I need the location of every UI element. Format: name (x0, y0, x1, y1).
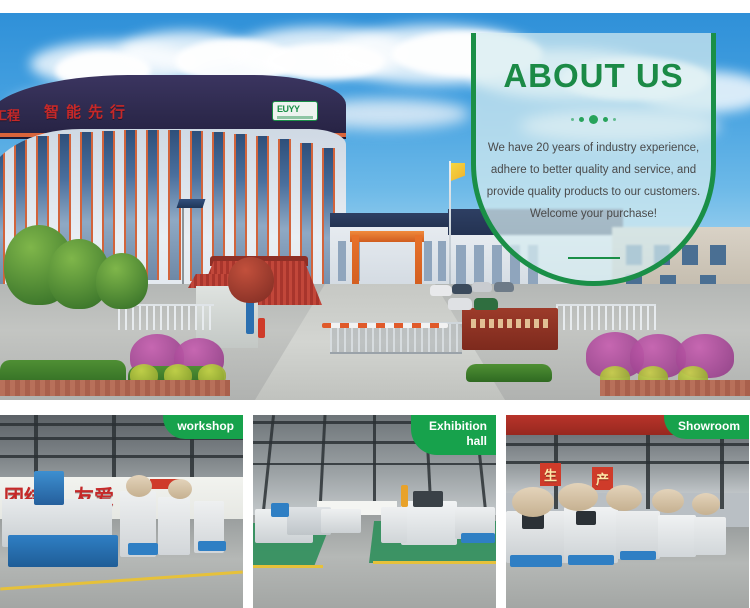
about-us-panel: ABOUT US We have 20 years of industry ex… (471, 33, 716, 286)
company-stone-sign (462, 308, 558, 350)
notice-board (246, 300, 254, 334)
machine (401, 501, 457, 545)
hanging-banner: 生 (540, 463, 561, 486)
fence (118, 304, 214, 330)
indicator-light (401, 485, 408, 507)
paved-walkway (600, 380, 750, 396)
gallery-item-showroom[interactable]: 生 产 Showroom (506, 415, 749, 608)
machine-base (8, 535, 118, 567)
gallery-badge-showroom: Showroom (664, 415, 749, 439)
hero-image: 工程 智能先行 EUYY (0, 13, 750, 400)
solar-panel (177, 199, 206, 208)
about-line: We have 20 years of industry experience, (484, 137, 703, 159)
gallery-badge-workshop: workshop (163, 415, 243, 439)
gallery-badge-exhibition-hall: Exhibition hall (411, 415, 496, 455)
about-us-page: 工程 智能先行 EUYY (0, 0, 750, 608)
building-sign-main: 智能先行 (44, 101, 132, 122)
about-us-title: ABOUT US (476, 57, 711, 95)
car (452, 284, 472, 294)
badge-line-1: Exhibition (429, 419, 487, 434)
about-line: adhere to better quality and service, an… (484, 159, 703, 181)
machine-head (34, 471, 64, 505)
monitor (413, 491, 443, 507)
machine (658, 515, 696, 557)
control-cabinet (158, 497, 190, 555)
gallery-item-exhibition-hall[interactable]: Exhibition hall (253, 415, 496, 608)
dot-icon (589, 115, 598, 124)
building-sign-left: 工程 (0, 105, 20, 124)
boom-barrier (322, 323, 448, 328)
hanging-banner: 产 (592, 467, 613, 490)
machine (321, 509, 361, 533)
about-us-description: We have 20 years of industry experience,… (484, 137, 703, 225)
machine (694, 517, 726, 555)
logo-text: EUYY (277, 104, 300, 114)
tree (96, 253, 148, 309)
car (472, 282, 492, 292)
car (494, 282, 514, 292)
fire-extinguisher (258, 318, 265, 338)
gantry-crane-top (350, 231, 424, 242)
fence (556, 304, 656, 330)
about-line: provide quality products to our customer… (484, 181, 703, 203)
dot-icon (579, 117, 584, 122)
decorative-dots (476, 115, 711, 124)
company-logo: EUYY (272, 101, 318, 121)
gallery-item-workshop[interactable]: 团结 友爱 workshop (0, 415, 243, 608)
paved-walkway (0, 380, 230, 396)
monitor (576, 511, 596, 525)
about-line: Welcome your purchase! (484, 203, 703, 225)
car (474, 298, 498, 310)
tree (228, 257, 274, 303)
car (448, 298, 472, 310)
badge-line-2: hall (429, 434, 487, 449)
dot-icon (571, 118, 574, 121)
gallery-row: 团结 友爱 workshop (0, 415, 750, 608)
divider (568, 257, 620, 260)
dot-icon (613, 118, 616, 121)
car (430, 285, 452, 296)
machine (381, 507, 407, 543)
hedge (466, 364, 552, 382)
dot-icon (603, 117, 608, 122)
